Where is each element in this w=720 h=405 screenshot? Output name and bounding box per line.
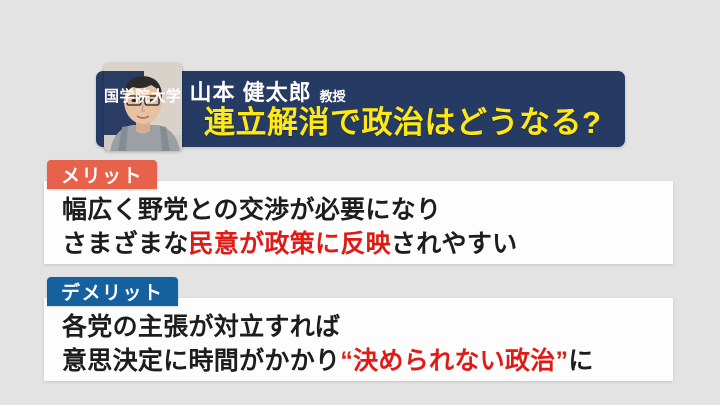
speaker-title: 教授 — [320, 90, 346, 103]
demerit-line-2-post: に — [568, 347, 593, 375]
demerit-line-2-pre: 意思決定に時間がかかり — [62, 347, 340, 375]
speaker-portrait-icon — [104, 63, 182, 151]
merit-badge: メリット — [47, 160, 157, 189]
demerit-badge: デメリット — [47, 277, 178, 306]
speaker-name: 山本 健太郎 — [190, 82, 312, 104]
news-graphic-stage: 国学院大学 山本 健太郎 教授 連立解消で政治はどうなる? メリット 幅広く野党… — [0, 0, 720, 405]
merit-line-2-post: されやすい — [391, 230, 518, 258]
speaker-identification: 国学院大学 山本 健太郎 教授 — [104, 78, 444, 104]
demerit-line-2: 意思決定に時間がかかり“決められない政治”に — [62, 349, 594, 374]
merit-line-2-pre: さまざまな — [62, 230, 189, 258]
merit-line-2: さまざまな民意が政策に反映されやすい — [62, 232, 517, 257]
merit-line-1: 幅広く野党との交渉が必要になり — [62, 198, 441, 223]
demerit-line-1: 各党の主張が対立すれば — [62, 315, 340, 340]
speaker-affiliation: 国学院大学 — [104, 89, 182, 104]
headline: 連立解消で政治はどうなる? — [204, 106, 620, 140]
demerit-line-2-highlight: “決められない政治” — [340, 347, 568, 375]
speaker-photo-thumbnail — [104, 63, 182, 151]
merit-line-2-highlight: 民意が政策に反映 — [189, 230, 391, 258]
